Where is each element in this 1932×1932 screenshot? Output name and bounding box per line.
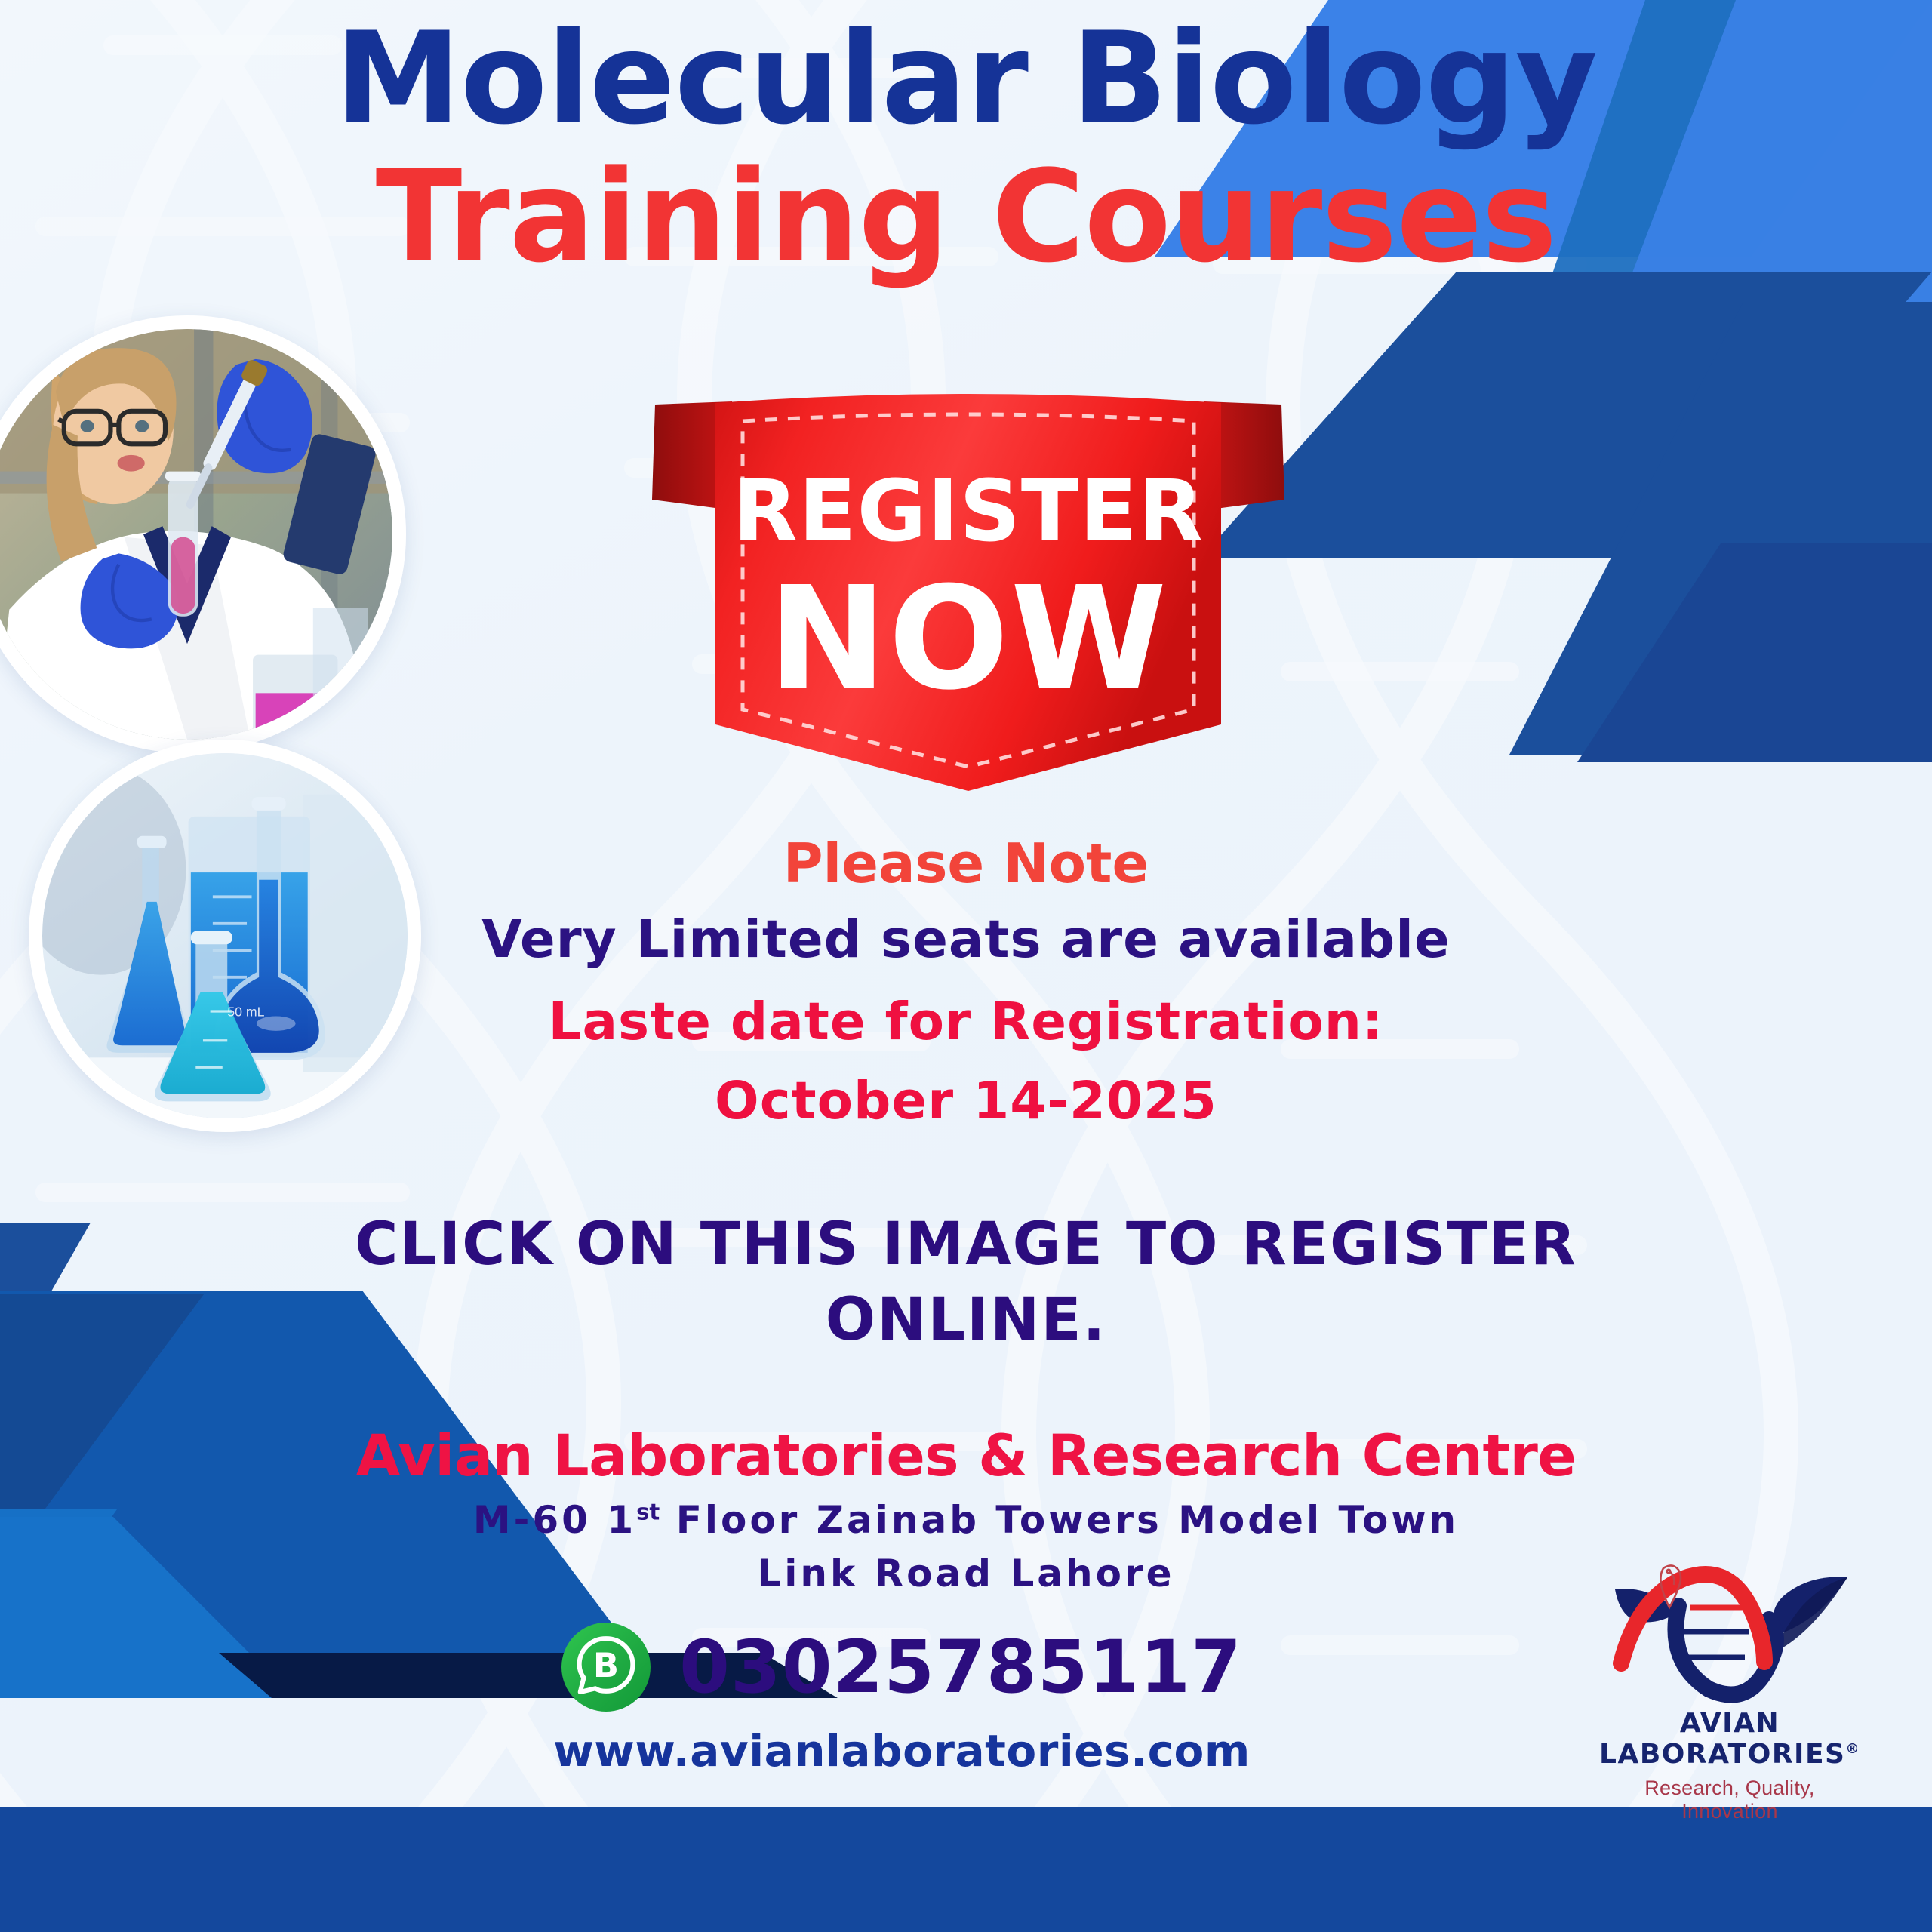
address-prefix: M-60 1: [473, 1498, 636, 1542]
avian-laboratories-logo: AVIAN LABORATORIES® Research, Quality, I…: [1594, 1556, 1866, 1798]
logo-brand-text: AVIAN LABORATORIES: [1599, 1708, 1845, 1770]
address-suffix: Floor Zainab Towers Model Town: [660, 1498, 1459, 1542]
title-line-2: Training Courses: [0, 142, 1932, 291]
whatsapp-b-letter: B: [593, 1645, 619, 1685]
shape-tr-dark: [1200, 272, 1932, 558]
poster-title: Molecular Biology Training Courses: [0, 15, 1932, 291]
logo-wordmark: AVIAN LABORATORIES®: [1594, 1708, 1866, 1770]
register-now-ribbon[interactable]: REGISTER NOW: [648, 389, 1289, 820]
logo-mark: [1594, 1556, 1866, 1711]
please-note-block: Please Note Very Limited seats are avail…: [0, 829, 1932, 1141]
address-ordinal-suffix: st: [636, 1499, 660, 1524]
note-seats-text: Very Limited seats are available: [0, 898, 1932, 983]
shape-tr-deep: [1577, 543, 1932, 762]
organization-name: Avian Laboratories & Research Centre: [0, 1419, 1932, 1494]
note-heading: Please Note: [0, 829, 1932, 898]
poster-canvas: 50 mL Molecular Biology Training Courses: [0, 0, 1932, 1932]
registered-trademark-icon: ®: [1845, 1741, 1860, 1757]
logo-dna-red: [1621, 1574, 1764, 1663]
call-to-action[interactable]: CLICK ON THIS IMAGE TO REGISTER ONLINE.: [0, 1207, 1932, 1358]
ribbon-text-now: NOW: [768, 556, 1169, 721]
photo-scientist-pipetting: [0, 315, 406, 753]
whatsapp-business-icon[interactable]: B: [561, 1623, 651, 1712]
ribbon-text-register: REGISTER: [733, 463, 1204, 561]
shape-tr-dark2: [1509, 302, 1932, 755]
bottom-blue-bar: [0, 1807, 1932, 1932]
phone-number[interactable]: 03025785117: [679, 1625, 1242, 1709]
cta-line-2: ONLINE.: [0, 1283, 1932, 1358]
title-line-1: Molecular Biology: [0, 15, 1932, 142]
logo-tagline: Research, Quality, Innovation: [1594, 1777, 1866, 1823]
cta-line-1: CLICK ON THIS IMAGE TO REGISTER: [0, 1207, 1932, 1283]
address-line-1: M-60 1st Floor Zainab Towers Model Town: [0, 1494, 1932, 1547]
note-deadline-label: Laste date for Registration:: [0, 983, 1932, 1062]
note-deadline-date: October 14-2025: [0, 1062, 1932, 1141]
